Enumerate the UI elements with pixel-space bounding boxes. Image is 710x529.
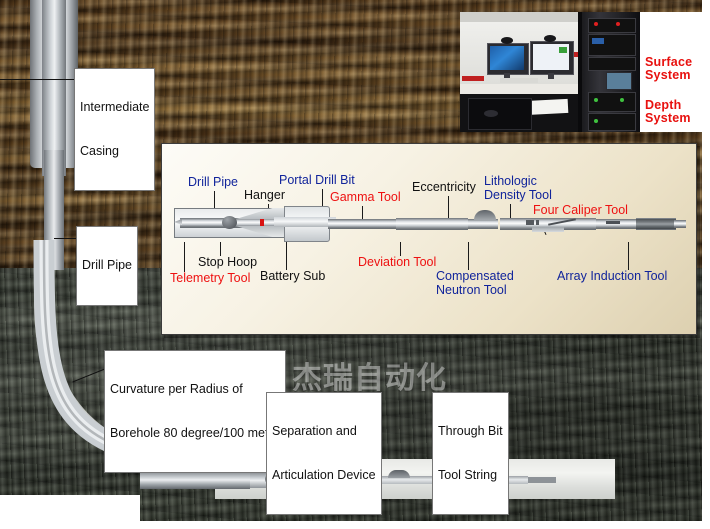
callout-intermediate-casing-line2: Casing bbox=[80, 144, 149, 159]
label-depth-system-line2: System bbox=[645, 112, 691, 125]
callout-drill-pipe: Drill Pipe bbox=[76, 226, 138, 306]
neutron-detector-mark-2 bbox=[536, 220, 539, 225]
bha-eccentricity-bow bbox=[388, 470, 410, 478]
gamma-deviation-tool-body bbox=[396, 218, 468, 230]
leader-deviation-tool bbox=[400, 242, 401, 256]
callout-intermediate-casing-line1: Intermediate bbox=[80, 100, 149, 115]
label-battery-sub: Battery Sub bbox=[260, 270, 325, 284]
callout-separation-line1: Separation and bbox=[272, 424, 376, 439]
leader-telemetry-tool bbox=[184, 242, 185, 272]
well-schematic-figure: 杰瑞自动化 bbox=[0, 0, 710, 529]
toolstring-graphic bbox=[174, 206, 686, 240]
leader-stop-hoop bbox=[220, 242, 221, 256]
leader-battery-sub bbox=[286, 242, 287, 270]
caliper-slot-mark bbox=[606, 221, 620, 224]
label-array-induction-tool: Array Induction Tool bbox=[557, 270, 667, 284]
label-gamma-tool: Gamma Tool bbox=[330, 191, 401, 205]
leader-compensated-neutron-tool bbox=[468, 242, 469, 270]
label-portal-drill-bit: Portal Drill Bit bbox=[279, 174, 355, 188]
leader-intermediate-casing bbox=[0, 79, 74, 80]
lithologic-density-pad bbox=[532, 227, 564, 232]
label-telemetry-tool: Telemetry Tool bbox=[170, 272, 250, 286]
label-surface-system: Surface System bbox=[645, 56, 692, 82]
eccentricity-bow-spring bbox=[474, 210, 496, 220]
leader-array-induction-tool bbox=[628, 242, 629, 270]
leader-drill-pipe bbox=[54, 238, 76, 239]
page-margin-right bbox=[702, 0, 710, 529]
toolstring-detail-panel: Drill Pipe Hanger Portal Drill Bit Gamma… bbox=[161, 143, 697, 335]
bha-tail bbox=[528, 477, 556, 483]
neutron-detector-mark-1 bbox=[526, 220, 534, 225]
page-margin-bottom-left bbox=[0, 495, 140, 529]
label-stop-hoop: Stop Hoop bbox=[198, 256, 257, 270]
label-eccentricity: Eccentricity bbox=[412, 181, 476, 195]
label-drill-pipe: Drill Pipe bbox=[188, 176, 238, 190]
callout-curvature-line2: Borehole 80 degree/100 meter bbox=[110, 426, 280, 441]
label-lithologic-density-tool: Lithologic Density Tool bbox=[484, 175, 552, 202]
label-deviation-tool: Deviation Tool bbox=[358, 256, 436, 270]
callout-drill-pipe-line1: Drill Pipe bbox=[82, 258, 132, 273]
array-induction-tool-body bbox=[636, 218, 676, 230]
label-compensated-neutron-tool: Compensated Neutron Tool bbox=[436, 270, 514, 297]
callout-through-bit-line2: Tool String bbox=[438, 468, 503, 483]
callout-through-bit-tool-string: Through Bit Tool String bbox=[432, 392, 509, 515]
callout-separation-line2: Articulation Device bbox=[272, 468, 376, 483]
callout-curvature-line1: Curvature per Radius of bbox=[110, 382, 280, 397]
eccentricity-connector bbox=[468, 219, 498, 229]
toolstring-tail bbox=[674, 220, 686, 228]
label-depth-system: Depth System bbox=[645, 99, 691, 125]
surface-control-cabin-photo bbox=[460, 12, 640, 132]
telemetry-ball-joint bbox=[222, 216, 237, 229]
callout-through-bit-line1: Through Bit bbox=[438, 424, 503, 439]
label-hanger: Hanger bbox=[244, 189, 285, 203]
callout-separation-articulation-device: Separation and Articulation Device bbox=[266, 392, 382, 515]
label-surface-system-line2: System bbox=[645, 69, 692, 82]
label-lithologic-density-line1: Lithologic bbox=[484, 175, 552, 189]
label-lithologic-density-line2: Density Tool bbox=[484, 189, 552, 203]
bit-bore-passage bbox=[274, 217, 336, 227]
callout-curvature-radius: Curvature per Radius of Borehole 80 degr… bbox=[104, 350, 286, 473]
callout-intermediate-casing: Intermediate Casing bbox=[74, 68, 155, 191]
label-compensated-neutron-line2: Neutron Tool bbox=[436, 284, 514, 298]
battery-sub-body bbox=[328, 219, 396, 229]
label-compensated-neutron-line1: Compensated bbox=[436, 270, 514, 284]
